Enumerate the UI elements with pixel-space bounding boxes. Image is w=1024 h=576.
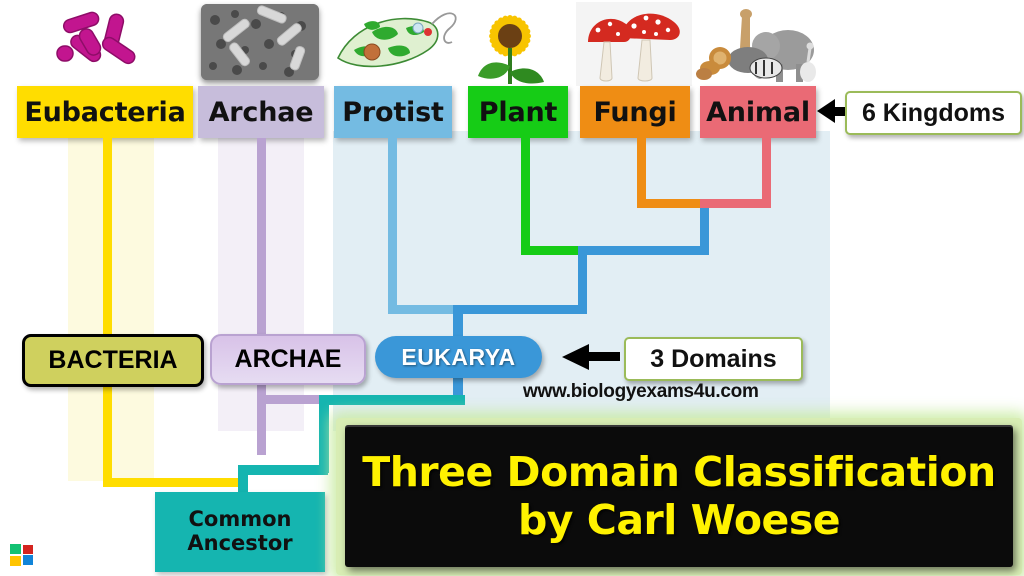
archaea-micrograph-icon (201, 4, 319, 80)
kingdom-label-archae: Archae (209, 97, 314, 128)
branch-protist-crown-link (462, 305, 587, 314)
kingdom-box-plant[interactable]: Plant (468, 86, 568, 138)
domain-label-archae: ARCHAE (235, 345, 342, 374)
mushroom-icon (576, 2, 692, 86)
branch-archae-horizontal (257, 395, 319, 404)
windows-logo-tile-blue (23, 555, 33, 565)
thumb-fungi (576, 2, 692, 86)
branch-plant-vertical (521, 138, 530, 255)
windows-logo-tile-yellow (10, 556, 21, 566)
branch-eubacteria-horizontal (103, 478, 245, 487)
animals-group-icon (696, 2, 820, 86)
branch-animal-horizontal (700, 199, 771, 208)
domain-pill-eukarya[interactable]: EUKARYA (375, 336, 542, 378)
domains-arrow-shaft (588, 352, 620, 361)
callout-3-domains-label: 3 Domains (650, 345, 776, 374)
branch-animal-vertical (762, 138, 771, 208)
domain-pill-archae[interactable]: ARCHAE (210, 334, 366, 385)
kingdom-box-fungi[interactable]: Fungi (580, 86, 690, 138)
windows-logo-tile-red (23, 545, 33, 554)
kingdom-label-eubacteria: Eubacteria (24, 97, 185, 128)
common-ancestor-label-line2: Ancestor (187, 532, 292, 556)
thumb-plant (466, 2, 562, 86)
windows-logo-tile-green (10, 544, 21, 554)
domain-label-eukarya: EUKARYA (401, 344, 515, 371)
thumb-eubacteria (45, 6, 165, 86)
domains-arrow-head-icon (562, 344, 589, 370)
kingdom-box-protist[interactable]: Protist (334, 86, 452, 138)
diagram-canvas: Eubacteria Archae Protist Plant Fungi An… (0, 0, 1024, 576)
sunflower-icon (466, 2, 562, 86)
branch-eukaryote-crown-trunk (578, 246, 587, 314)
branch-fungi-horizontal (637, 199, 709, 208)
kingdom-box-eubacteria[interactable]: Eubacteria (17, 86, 193, 138)
common-ancestor-label-line1: Common (189, 508, 292, 532)
domain-label-bacteria: BACTERIA (48, 346, 177, 375)
root-vertical-archae (319, 395, 329, 473)
kingdom-box-archae[interactable]: Archae (198, 86, 324, 138)
windows-logo-watermark (10, 544, 36, 568)
common-ancestor-box[interactable]: Common Ancestor (155, 492, 325, 572)
root-horizontal-upper (319, 395, 465, 405)
title-line-1: Three Domain Classification (362, 448, 995, 496)
kingdom-label-protist: Protist (342, 97, 443, 128)
kingdom-box-animal[interactable]: Animal (700, 86, 816, 138)
callout-3-domains: 3 Domains (624, 337, 803, 381)
kingdom-label-plant: Plant (479, 97, 557, 128)
title-line-2: by Carl Woese (518, 496, 840, 544)
branch-eubacteria-vertical (103, 138, 112, 487)
domain-pill-bacteria[interactable]: BACTERIA (22, 334, 204, 387)
title-banner: Three Domain Classification by Carl Woes… (345, 425, 1013, 567)
branch-archae-vertical (257, 138, 266, 455)
thumb-animal (696, 2, 820, 86)
bacteria-rods-icon (45, 6, 165, 86)
kingdom-label-fungi: Fungi (593, 97, 676, 128)
branch-plant-horizontal (521, 246, 583, 255)
branch-fungi-vertical (637, 138, 646, 208)
website-credit: www.biologyexams4u.com (523, 381, 759, 403)
euglena-icon (332, 2, 464, 84)
branch-protist-vertical (388, 138, 397, 314)
kingdoms-arrow-head-icon (817, 99, 835, 123)
root-horizontal-lower (238, 465, 328, 475)
thumb-protist (332, 2, 464, 84)
callout-6-kingdoms: 6 Kingdoms (845, 91, 1022, 135)
thumb-archae (201, 4, 319, 80)
callout-6-kingdoms-label: 6 Kingdoms (862, 99, 1005, 128)
kingdom-label-animal: Animal (706, 97, 810, 128)
branch-plant-opisthokont-link (578, 246, 709, 255)
